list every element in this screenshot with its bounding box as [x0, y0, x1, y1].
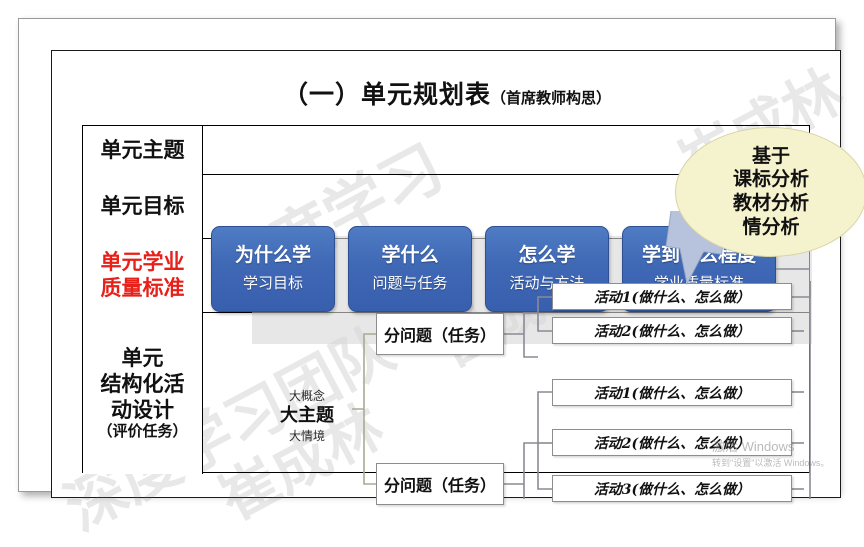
page-title: （一）单元规划表（首席教师构思）: [52, 75, 842, 111]
big-topic-group: 大概念 大主题 大情境: [264, 388, 350, 445]
title-main: （一）单元规划表: [283, 80, 491, 109]
blue-box-title: 怎么学: [518, 245, 575, 266]
row-label-unit-goal: 单元目标: [83, 174, 203, 238]
row-label-structured-activity: 单元 结构化活 动设计 （评价任务）: [83, 312, 203, 474]
row-label-academic-standard: 单元学业 质量标准: [83, 238, 203, 312]
sub-problem-label: 分问题（任务）: [384, 472, 496, 496]
callout-line: 教材分析: [733, 192, 809, 216]
big-context-label: 大情境: [264, 428, 350, 444]
activity-box[interactable]: 活动2(做什么、怎么做）: [552, 429, 792, 456]
activity-box[interactable]: 活动3(做什么、怎么做）: [552, 475, 792, 502]
sub-problem-box-1[interactable]: 分问题（任务）: [376, 313, 504, 355]
activity-box[interactable]: 活动1(做什么、怎么做）: [552, 379, 792, 406]
blue-box-what-learn[interactable]: 学什么 问题与任务: [348, 226, 472, 312]
callout-basis: 基于 课标分析 教材分析 情分析: [675, 127, 864, 257]
sub-problem-box-2[interactable]: 分问题（任务）: [376, 463, 504, 505]
activity-box[interactable]: 活动2(做什么、怎么做）: [552, 317, 792, 344]
slide-frame: 深度学习团队 崔成林 深度学习 崔成林 崔成 （一）单元规划表（首席教师构思） …: [51, 50, 841, 498]
blue-box-why-learn[interactable]: 为什么学 学习目标: [211, 226, 335, 312]
activity-box[interactable]: 活动1(做什么、怎么做）: [552, 283, 792, 310]
big-theme-label: 大主题: [264, 404, 350, 428]
activity-label: 活动2(做什么、怎么做）: [594, 433, 750, 453]
row-label-unit-theme: 单元主题: [83, 126, 203, 174]
outer-frame: 深度学习团队 崔成林 深度学习 崔成林 崔成 （一）单元规划表（首席教师构思） …: [18, 18, 836, 492]
blue-box-title: 为什么学: [235, 245, 311, 266]
activity-label: 活动2(做什么、怎么做）: [594, 321, 750, 341]
activity-label: 活动1(做什么、怎么做）: [594, 383, 750, 403]
blue-box-title: 学什么: [381, 245, 438, 266]
activity-label: 活动3(做什么、怎么做）: [594, 479, 750, 499]
title-subtitle: （首席教师构思）: [491, 89, 611, 107]
callout-line: 基于: [752, 145, 790, 169]
big-concept-label: 大概念: [264, 388, 350, 404]
blue-box-subtitle: 问题与任务: [372, 272, 447, 293]
callout-line: 情分析: [742, 216, 799, 240]
blue-box-subtitle: 学习目标: [243, 272, 303, 293]
sub-problem-label: 分问题（任务）: [384, 322, 496, 346]
slide-canvas: 深度学习团队 崔成林 深度学习 崔成林 崔成 （一）单元规划表（首席教师构思） …: [0, 0, 864, 520]
callout-line: 课标分析: [733, 168, 809, 192]
activity-label: 活动1(做什么、怎么做）: [594, 287, 750, 307]
